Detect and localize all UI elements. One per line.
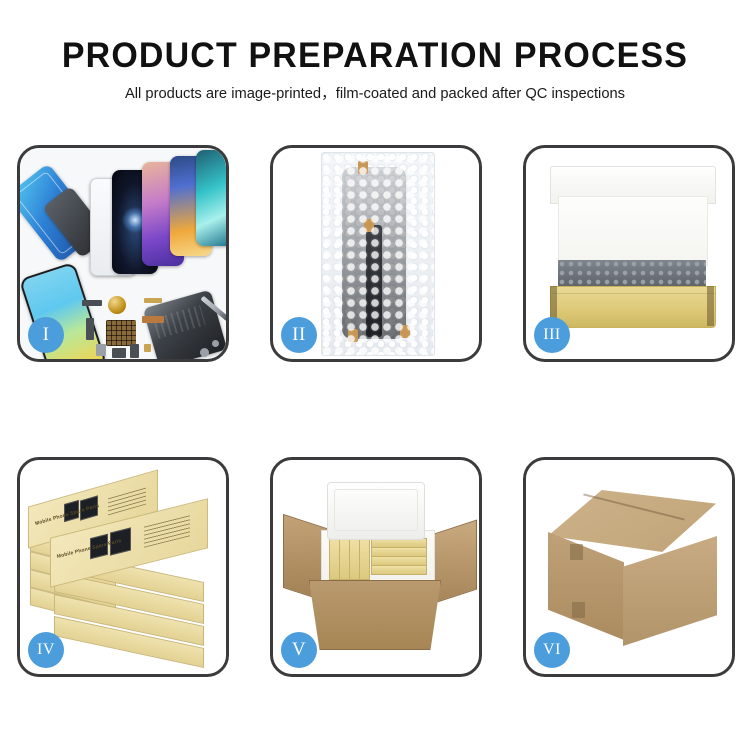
- antenna-part: [142, 316, 164, 323]
- carton-front-panel: [309, 580, 441, 650]
- bubble-texture-overlay: [322, 153, 434, 355]
- process-step-panel-3[interactable]: III: [523, 145, 735, 362]
- foam-box-lid: [327, 482, 425, 540]
- inner-box-v-4: [359, 538, 370, 580]
- bubble-wrap-bag: [321, 152, 435, 356]
- small-screw-part: [212, 340, 219, 347]
- earpiece-part: [130, 344, 139, 358]
- step-badge-2: II: [281, 317, 317, 353]
- inner-box-h-4: [371, 565, 427, 575]
- step-badge-6: VI: [534, 632, 570, 668]
- page-title: PRODUCT PREPARATION PROCESS: [11, 36, 739, 76]
- process-step-panel-6[interactable]: VI: [523, 457, 735, 677]
- step-badge-5: V: [281, 632, 317, 668]
- carton-tape-lower: [572, 602, 585, 618]
- speaker-part: [112, 348, 126, 358]
- carton-tape-upper: [570, 544, 583, 560]
- process-step-grid: I II III: [17, 145, 733, 677]
- sim-tray-part: [96, 344, 106, 356]
- process-step-panel-2[interactable]: II: [270, 145, 482, 362]
- page-header: PRODUCT PREPARATION PROCESS All products…: [0, 0, 750, 105]
- process-step-panel-1[interactable]: I: [17, 145, 229, 362]
- screw-part: [144, 344, 151, 352]
- vibration-motor-part: [108, 296, 126, 314]
- step-badge-4: IV: [28, 632, 64, 668]
- button-part: [200, 348, 209, 357]
- grey-bubble-padding: [558, 260, 706, 288]
- flex-cable-part: [144, 298, 162, 303]
- yellow-box-front: [550, 286, 716, 328]
- logic-board-part: [106, 320, 136, 346]
- camera-flex-part: [86, 318, 94, 340]
- process-step-panel-4[interactable]: Mobile Phone Spare Parts Mobile Phone Sp…: [17, 457, 229, 677]
- page-subtitle: All products are image-printed，film-coat…: [8, 83, 743, 105]
- process-step-panel-5[interactable]: V: [270, 457, 482, 677]
- teal-gradient-phone: [196, 150, 226, 246]
- box-corner-right: [707, 286, 714, 326]
- step-badge-3: III: [534, 317, 570, 353]
- step-badge-1: I: [28, 317, 64, 353]
- connector-part: [82, 300, 102, 306]
- white-foam-sheet: [558, 196, 708, 266]
- inner-boxes-group: [329, 538, 425, 580]
